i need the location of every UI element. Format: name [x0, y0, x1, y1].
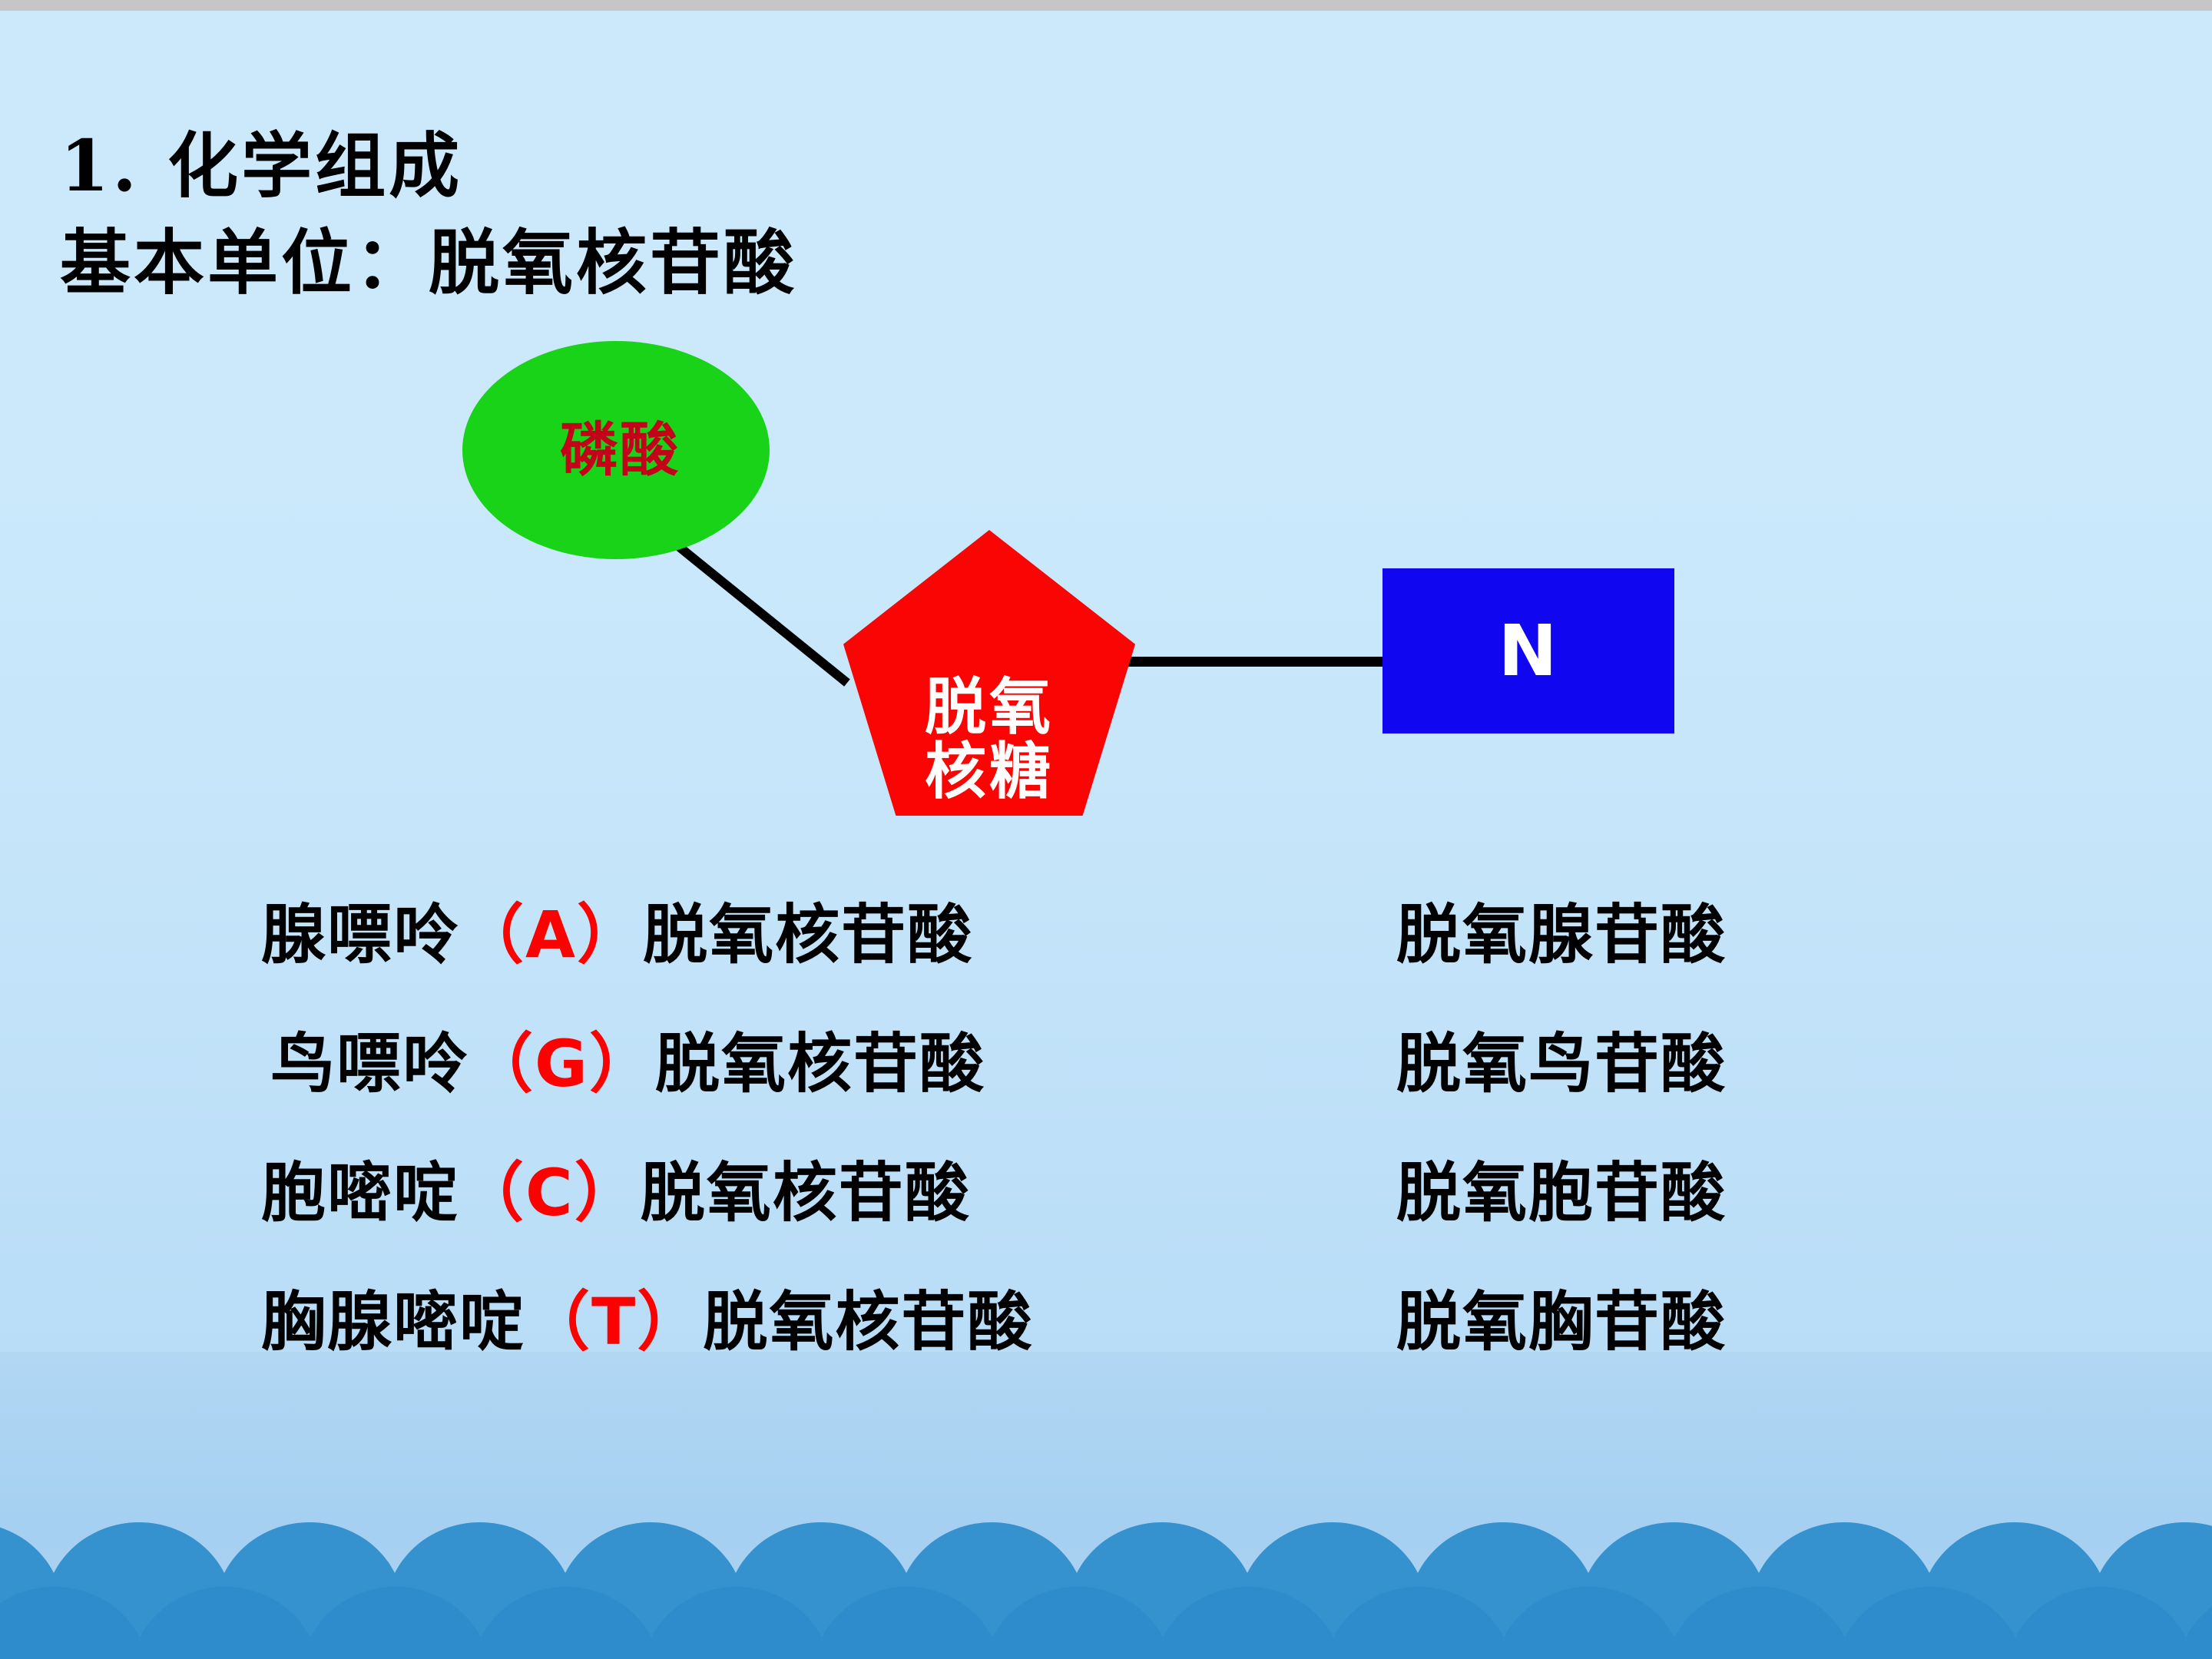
nucleotide-suffix: 脱氧核苷酸	[643, 896, 973, 972]
deoxyribose-label-line1: 脱氧	[925, 674, 1054, 739]
nucleotide-full-name: 腺嘌呤（A）脱氧核苷酸	[261, 883, 973, 976]
nucleotide-short-name: 脱氧腺苷酸	[1396, 883, 1727, 976]
nucleotide-suffix: 脱氧核苷酸	[655, 1025, 985, 1101]
open-paren: （	[525, 1283, 591, 1359]
scallop-shape	[1154, 1587, 1343, 1659]
nucleotide-code-letter: A	[525, 897, 577, 972]
phosphate-label: 磷酸	[552, 421, 680, 479]
open-paren: （	[469, 1025, 535, 1101]
open-paren: （	[459, 896, 525, 972]
nucleotide-full-name: 胞嘧啶（C）脱氧核苷酸	[261, 1141, 971, 1234]
phosphate-group-shape: 磷酸	[462, 341, 770, 559]
connector-line-sugar-to-base	[1128, 657, 1395, 667]
nucleotide-short-name: 脱氧胞苷酸	[1396, 1141, 1727, 1234]
nucleotide-suffix: 脱氧核苷酸	[641, 1154, 971, 1230]
scallop-shape	[642, 1587, 831, 1659]
close-paren: ）	[577, 896, 643, 972]
nucleotide-name-list: 腺嘌呤（A）脱氧核苷酸脱氧腺苷酸鸟嘌呤（G）脱氧核苷酸脱氧鸟苷酸胞嘧啶（C）脱氧…	[0, 883, 2212, 1399]
scallop-shape	[1495, 1587, 1684, 1659]
scallop-shape	[301, 1587, 490, 1659]
scallop-shape	[983, 1587, 1172, 1659]
nitrogenous-base-label: N	[1498, 610, 1559, 692]
nucleotide-code-letter: T	[591, 1284, 637, 1359]
deoxyribose-shape: 脱氧 核糖	[843, 530, 1135, 816]
scallop-shape	[2177, 1587, 2212, 1659]
scallop-shape	[472, 1587, 661, 1659]
nucleotide-base-name: 胞嘧啶	[261, 1154, 459, 1230]
nucleotide-structure-diagram: 磷酸 脱氧 核糖 N	[0, 0, 2212, 883]
nucleotide-full-name: 鸟嘌呤（G）脱氧核苷酸	[270, 1012, 985, 1105]
scallop-shape	[2006, 1587, 2195, 1659]
nucleotide-row: 鸟嘌呤（G）脱氧核苷酸脱氧鸟苷酸	[0, 1012, 2212, 1141]
scallop-shape	[1836, 1587, 2025, 1659]
close-paren: ）	[575, 1154, 641, 1230]
scallop-shape	[1665, 1587, 1854, 1659]
scallop-shape	[1324, 1587, 1513, 1659]
nucleotide-short-name: 脱氧鸟苷酸	[1396, 1012, 1727, 1105]
nucleotide-row: 胞嘧啶（C）脱氧核苷酸脱氧胞苷酸	[0, 1141, 2212, 1270]
nucleotide-row: 腺嘌呤（A）脱氧核苷酸脱氧腺苷酸	[0, 883, 2212, 1012]
nucleotide-base-name: 腺嘌呤	[261, 896, 459, 972]
nucleotide-suffix: 脱氧核苷酸	[703, 1283, 1033, 1359]
nucleotide-short-name: 脱氧胸苷酸	[1396, 1270, 1727, 1363]
close-paren: ）	[637, 1283, 703, 1359]
nucleotide-code-letter: G	[535, 1026, 589, 1101]
open-paren: （	[459, 1154, 525, 1230]
close-paren: ）	[589, 1025, 655, 1101]
nucleotide-row: 胸腺嘧啶（T）脱氧核苷酸脱氧胸苷酸	[0, 1270, 2212, 1399]
scallop-shape	[131, 1587, 320, 1659]
slide-canvas: 1. 化学组成 基本单位：脱氧核苷酸 磷酸 脱氧 核糖 N 腺嘌呤（A）脱氧核苷…	[0, 0, 2212, 1659]
scallop-row-front	[0, 1587, 2212, 1659]
nucleotide-full-name: 胸腺嘧啶（T）脱氧核苷酸	[261, 1270, 1033, 1363]
connector-line-phosphate-to-sugar	[659, 529, 849, 686]
nucleotide-base-name: 胸腺嘧啶	[261, 1283, 525, 1359]
nucleotide-base-name: 鸟嘌呤	[270, 1025, 469, 1101]
nucleotide-code-letter: C	[525, 1155, 575, 1230]
scallop-shape	[0, 1587, 149, 1659]
scallop-shape	[813, 1587, 1002, 1659]
deoxyribose-label-line2: 核糖	[925, 739, 1054, 803]
nitrogenous-base-shape: N	[1382, 568, 1674, 733]
